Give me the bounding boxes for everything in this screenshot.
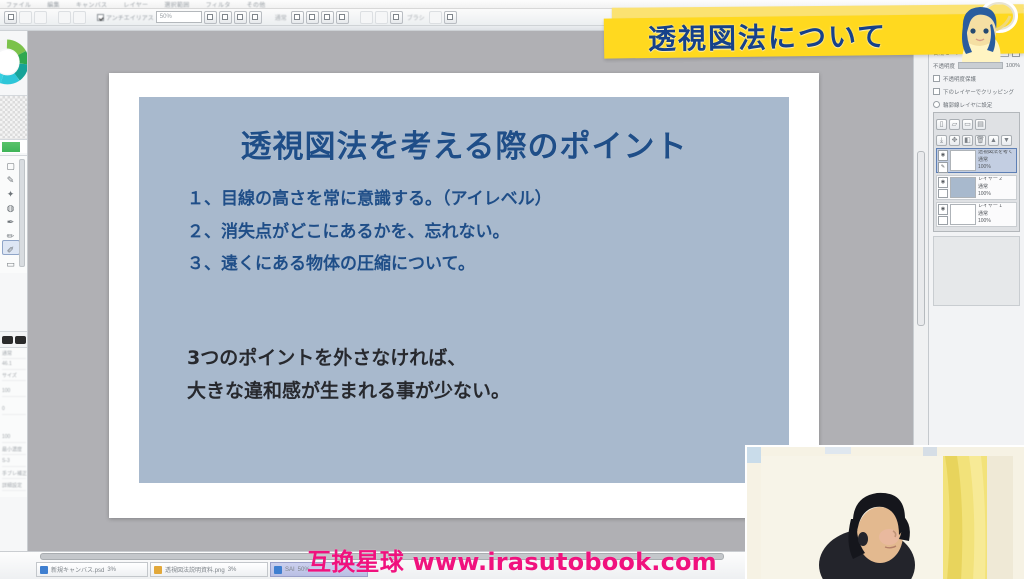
antialias-label: アンチエイリアス — [106, 13, 154, 22]
layer-row[interactable]: ◉ レイヤー 2 通常 100% — [936, 175, 1017, 200]
lock-icon[interactable] — [938, 189, 948, 198]
brush-setting-row[interactable]: 詳細設定 — [2, 482, 26, 491]
taskbar-item[interactable]: 新規キャンバス.psd 3% — [36, 562, 148, 577]
toolbar-button-zoom-in[interactable] — [204, 11, 217, 24]
toolbar-extra-label: ブラシ — [405, 13, 427, 22]
taskbar-item[interactable]: SAI 50% — [270, 562, 368, 577]
taskbar-item-label: 新規キャンバス.psd — [51, 565, 104, 574]
brush-setting-row[interactable]: 100 — [2, 388, 26, 397]
menu-item-edit[interactable]: 編集 — [47, 0, 60, 9]
layer-mode: 通常 — [978, 184, 1015, 192]
lineart-label: 輪郭線レイヤに設定 — [943, 101, 992, 109]
layer-meta: レイヤー 1 通常 100% — [978, 204, 1015, 225]
tool-eraser-icon[interactable]: ▭ — [4, 258, 17, 271]
layer-visibility-column: ◉ ✎ — [938, 150, 948, 171]
toolbar-button-undo[interactable] — [58, 11, 71, 24]
layer-mode: 通常 — [978, 211, 1015, 219]
eye-icon[interactable]: ◉ — [938, 150, 948, 161]
toolbar-button-new[interactable] — [4, 11, 17, 24]
layer-name: レイヤー 1 — [978, 204, 1015, 211]
layer-action-bar: ▯ ▱ ▭ ▤ — [936, 118, 1017, 131]
toolbar-button-rotate-left[interactable] — [291, 11, 304, 24]
mascot-character-icon — [944, 0, 1024, 66]
toolbar-button-rotate-right[interactable] — [306, 11, 319, 24]
toolbar-button-save[interactable] — [34, 11, 47, 24]
mask-icon[interactable]: ◧ — [962, 135, 973, 146]
slide-conclusion-line: 大きな違和感が生まれる事が少ない。 — [187, 375, 769, 408]
layer-row[interactable]: ◉ ✎ 透視図法を考く 通常 100% — [936, 148, 1017, 173]
toolbar-button-grid[interactable] — [360, 11, 373, 24]
horizontal-scrollbar[interactable] — [40, 553, 724, 560]
clipping-label: 下のレイヤーでクリッピング — [943, 88, 1014, 96]
clipping-row[interactable]: 下のレイヤーでクリッピング — [933, 86, 1020, 97]
toolbar-button-zoom-out[interactable] — [219, 11, 232, 24]
tool-magicwand-icon[interactable]: ✦ — [4, 188, 17, 201]
brush-setting-row[interactable]: 0 — [2, 406, 26, 415]
layer-opacity: 100% — [978, 164, 1015, 171]
slide-conclusion-line: 3つのポイントを外さなければ、 — [187, 342, 769, 375]
transparency-preview — [0, 95, 28, 139]
menu-item-file[interactable]: ファイル — [6, 0, 31, 9]
brush-settings-panel: 通常 46.1 サイズ 100 0 100 最小濃度 S-3 手ブレ補正 詳細設… — [0, 347, 28, 497]
lineart-row[interactable]: 輪郭線レイヤに設定 — [933, 99, 1020, 110]
slide-conclusion: 3つのポイントを外さなければ、 大きな違和感が生まれる事が少ない。 — [187, 342, 769, 409]
zoom-field[interactable]: 50% — [156, 11, 202, 23]
presenter-video-frame — [747, 447, 1024, 579]
tool-list-scrollbar[interactable] — [19, 159, 25, 267]
tool-pen-icon[interactable]: ✒ — [4, 216, 17, 229]
title-banner-text: 透視図法について — [648, 15, 948, 57]
background-color-swatch[interactable] — [15, 336, 26, 344]
color-wheel-icon[interactable] — [0, 39, 28, 85]
layer-panel-empty-area — [933, 236, 1020, 306]
brush-setting-row[interactable]: 通常 — [2, 350, 26, 359]
app-icon — [154, 566, 162, 574]
tool-lasso-icon[interactable]: ✎ — [4, 174, 17, 187]
toolbar-button-fit[interactable] — [234, 11, 247, 24]
swatch-strip — [0, 331, 28, 347]
layer-name: 透視図法を考く — [978, 150, 1015, 157]
active-color-swatch[interactable] — [2, 142, 20, 152]
layer-thumbnail — [950, 177, 976, 198]
merge-layer-icon[interactable]: ⤓ — [936, 135, 947, 146]
rotate-label: 通常 — [273, 13, 289, 22]
lock-alpha-row[interactable]: 不透明度保護 — [933, 73, 1020, 84]
layer-opacity: 100% — [978, 218, 1015, 225]
move-up-icon[interactable]: ▲ — [988, 135, 999, 146]
delete-layer-icon[interactable]: 🗑 — [975, 135, 986, 146]
brush-setting-row[interactable]: 100 — [2, 434, 26, 443]
menu-item-select[interactable]: 選択範囲 — [164, 0, 189, 9]
move-down-icon[interactable]: ▼ — [1001, 135, 1012, 146]
app-icon — [274, 566, 282, 574]
toolbar-button-flip-h[interactable] — [321, 11, 334, 24]
toolbar-button-open[interactable] — [19, 11, 32, 24]
menu-item-layer[interactable]: レイヤー — [123, 0, 148, 9]
toolbar-button-frame[interactable] — [390, 11, 403, 24]
layer-mode: 通常 — [978, 157, 1015, 165]
taskbar-item-label: 透視図法説明資料.png — [165, 565, 225, 574]
toolbar-button-flip-v[interactable] — [336, 11, 349, 24]
foreground-color-swatch[interactable] — [2, 336, 13, 344]
lock-alpha-checkbox[interactable] — [933, 75, 940, 82]
eye-icon[interactable]: ◉ — [938, 204, 948, 215]
eye-icon[interactable]: ◉ — [938, 177, 948, 188]
brush-setting-row[interactable]: サイズ — [2, 372, 26, 381]
toolbar-button-settings[interactable] — [429, 11, 442, 24]
brush-setting-row[interactable]: 46.1 — [2, 361, 26, 370]
tool-eyedropper-icon[interactable]: ◍ — [4, 202, 17, 215]
toolbar-button-actual[interactable] — [249, 11, 262, 24]
taskbar-item-badge: 3% — [107, 567, 116, 573]
layer-list-container: ▯ ▱ ▭ ▤ ⤓ ✥ ◧ 🗑 ▲ ▼ ◉ ✎ 透視図法を考く — [933, 112, 1020, 232]
toolbar-button-ruler[interactable] — [375, 11, 388, 24]
new-folder-icon[interactable]: ▱ — [949, 119, 960, 130]
tool-pencil-icon[interactable]: ✐ — [4, 244, 17, 257]
taskbar-item-badge: 3% — [228, 567, 237, 573]
new-layer-icon[interactable]: ▯ — [936, 119, 947, 130]
tool-brush-icon[interactable]: ✏ — [4, 230, 17, 243]
tool-select-icon[interactable]: ▢ — [4, 160, 17, 173]
taskbar-item-label: SAI — [285, 567, 295, 573]
layer-meta: レイヤー 2 通常 100% — [978, 177, 1015, 198]
layer-action-bar-2: ⤓ ✥ ◧ 🗑 ▲ ▼ — [936, 134, 1017, 147]
menu-item-canvas[interactable]: キャンバス — [76, 0, 108, 9]
menu-item-filter[interactable]: フィルタ — [206, 0, 231, 9]
layer-meta: 透視図法を考く 通常 100% — [978, 150, 1015, 171]
canvas-paper[interactable]: 透視図法を考える際のポイント １、目線の高さを常に意識する。（アイレベル） ２、… — [109, 73, 819, 518]
taskbar-item[interactable]: 透視図法説明資料.png 3% — [150, 562, 268, 577]
presenter-webcam — [745, 445, 1024, 579]
screen-root: ファイル 編集 キャンバス レイヤー 選択範囲 フィルタ その他 アンチエイリア… — [0, 0, 1024, 579]
layer-name: レイヤー 2 — [978, 177, 1015, 184]
layer-opacity: 100% — [978, 191, 1015, 198]
slide-title: 透視図法を考える際のポイント — [139, 121, 789, 166]
app-icon — [40, 566, 48, 574]
lineart-radio[interactable] — [933, 101, 940, 108]
antialias-checkbox[interactable]: アンチエイリアス — [97, 13, 154, 22]
taskbar-item-badge: 50% — [298, 567, 310, 573]
slide-content: 透視図法を考える際のポイント １、目線の高さを常に意識する。（アイレベル） ２、… — [139, 97, 789, 483]
slide-point-list: １、目線の高さを常に意識する。（アイレベル） ２、消失点がどこにあるかを、忘れな… — [187, 183, 769, 281]
transform-icon[interactable]: ✥ — [949, 135, 960, 146]
lock-icon[interactable] — [938, 216, 948, 225]
layer-options-icon[interactable]: ▤ — [975, 119, 986, 130]
brush-setting-row[interactable]: 手ブレ補正 — [2, 470, 26, 479]
layer-thumbnail — [950, 204, 976, 225]
slide-point-item: １、目線の高さを常に意識する。（アイレベル） — [187, 183, 769, 216]
duplicate-layer-icon[interactable]: ▭ — [962, 119, 973, 130]
canvas-vertical-scrollbar[interactable] — [917, 151, 925, 326]
color-swatch-panel[interactable] — [0, 139, 28, 153]
toolbar-button-redo[interactable] — [73, 11, 86, 24]
slide-point-item: ３、遠くにある物体の圧縮について。 — [187, 248, 769, 281]
toolbar-button-help[interactable] — [444, 11, 457, 24]
checkbox-box — [97, 14, 104, 21]
lock-icon[interactable]: ✎ — [938, 162, 948, 173]
menu-item-other[interactable]: その他 — [247, 0, 266, 9]
slide-point-item: ２、消失点がどこにあるかを、忘れない。 — [187, 216, 769, 249]
clipping-checkbox[interactable] — [933, 88, 940, 95]
brush-setting-row[interactable]: 最小濃度 — [2, 446, 26, 455]
brush-setting-row[interactable]: S-3 — [2, 458, 26, 467]
layer-visibility-column: ◉ — [938, 177, 948, 198]
left-tool-panel: ▢ ✎ ✦ ◍ ✒ ✏ ✐ ▭ 通常 46.1 サイズ 100 0 100 最小… — [0, 31, 28, 551]
layer-row[interactable]: ◉ レイヤー 1 通常 100% — [936, 202, 1017, 227]
layer-visibility-column: ◉ — [938, 204, 948, 225]
layer-thumbnail — [950, 150, 976, 171]
lock-alpha-label: 不透明度保護 — [943, 75, 976, 83]
